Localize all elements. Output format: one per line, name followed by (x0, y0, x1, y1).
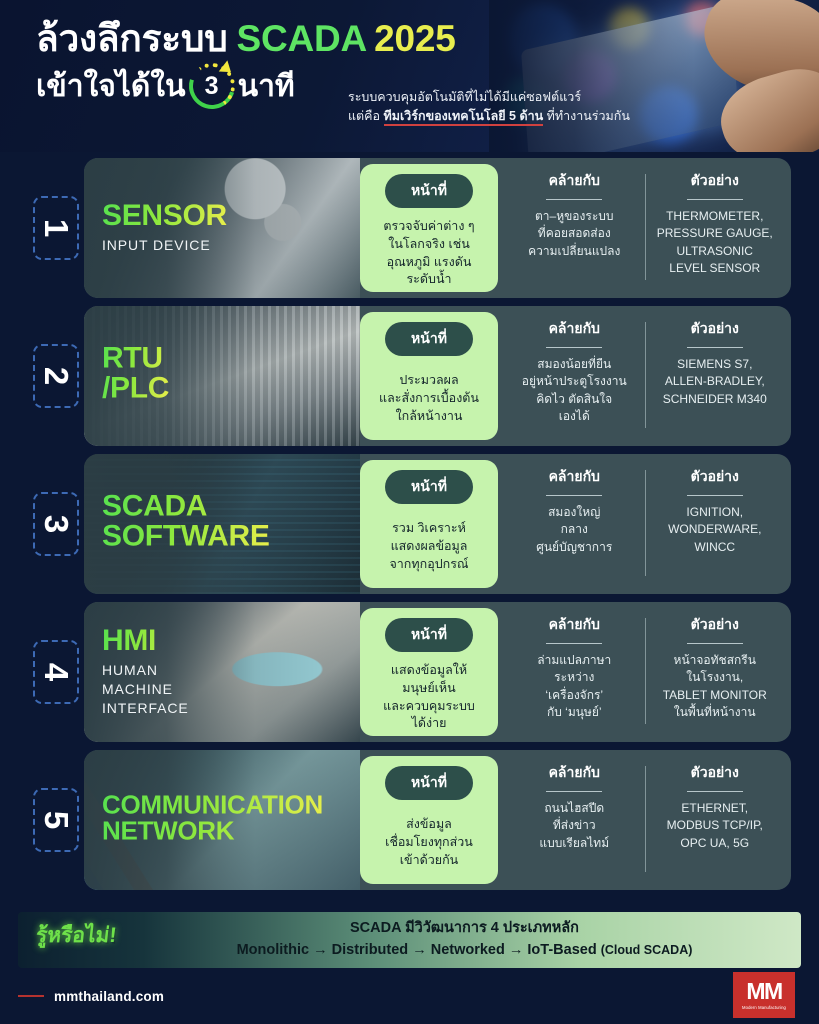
red-dash-icon (18, 995, 44, 998)
card-visual: COMMUNICATION NETWORK (84, 750, 360, 890)
ribbon-copy: SCADA มีวิวัฒนาการ 4 ประเภทหลัก Monolith… (127, 918, 693, 962)
duty-text: ส่งข้อมูล เชื่อมโยงทุกส่วน เข้าด้วยกัน (385, 810, 473, 876)
mm-logo-mark: MM (746, 980, 781, 1003)
ribbon-line-2: Monolithic → Distributed → Networked → I… (237, 940, 693, 962)
headline-thai: ล้วงลึกระบบ (36, 18, 228, 59)
card-subtitle: INPUT DEVICE (102, 236, 227, 255)
card-title: SCADA SOFTWARE (102, 492, 270, 552)
card-title-block: SCADA SOFTWARE (102, 492, 270, 557)
card-subtitle: HUMAN MACHINE INTERFACE (102, 661, 189, 718)
step-number-4: 4 (28, 602, 84, 742)
subcopy-line-1: ระบบควบคุมอัตโนมัติที่ไม่ได้มีแค่ซอฟต์แว… (348, 88, 630, 107)
step-number-value: 5 (37, 811, 75, 829)
step-number-2: 2 (28, 306, 84, 446)
divider (687, 791, 743, 792)
divider (546, 347, 602, 348)
example-text: IGNITION, WONDERWARE, WINCC (668, 504, 761, 556)
card-title: RTU /PLC (102, 344, 169, 404)
did-you-know-ribbon: รู้หรือไม่! SCADA มีวิวัฒนาการ 4 ประเภทห… (18, 912, 801, 968)
ribbon-line-1: SCADA มีวิวัฒนาการ 4 ประเภทหลัก (237, 918, 693, 940)
card-title: COMMUNICATION NETWORK (102, 792, 323, 844)
divider (687, 643, 743, 644)
step-row: 4 HMI HUMAN MACHINE INTERFACE หน้าที่ แส… (28, 602, 791, 742)
duty-text: ตรวจจับค่าต่าง ๆ ในโลกจริง เช่น อุณหภูมิ… (383, 218, 474, 289)
example-heading: ตัวอย่าง (691, 614, 739, 636)
steps-list: 1 SENSOR INPUT DEVICE หน้าที่ ตรวจจับค่า… (0, 152, 819, 890)
mm-logo[interactable]: MM Modern Manufacturing (733, 972, 795, 1018)
step-number-5: 5 (28, 750, 84, 890)
step-row: 3 SCADA SOFTWARE หน้าที่ รวม วิเคราะห์ แ… (28, 454, 791, 594)
similar-column: คล้ายกับ ถนนไฮสปีด ที่ส่งข่าว แบบเรียลไท… (504, 762, 645, 880)
example-heading: ตัวอย่าง (691, 318, 739, 340)
divider (687, 495, 743, 496)
similar-text: ล่ามแปลภาษา ระหว่าง ‘เครื่องจักร’ กับ ‘ม… (537, 652, 611, 722)
card-title: SENSOR (102, 201, 227, 231)
card-visual: HMI HUMAN MACHINE INTERFACE (84, 602, 360, 742)
card-columns: คล้ายกับ สมองใหญ่ กลาง ศูนย์บัญชาการ ตัว… (498, 454, 791, 594)
similar-heading: คล้ายกับ (549, 318, 600, 340)
example-column: ตัวอย่าง THERMOMETER, PRESSURE GAUGE, UL… (645, 170, 786, 288)
example-column: ตัวอย่าง IGNITION, WONDERWARE, WINCC (645, 466, 786, 584)
headline-line-1: ล้วงลึกระบบSCADA2025 (36, 18, 456, 59)
step-number-box: 4 (33, 640, 79, 704)
step-card-rtu-plc[interactable]: RTU /PLC หน้าที่ ประมวลผล และสั่งการเบื้… (84, 306, 791, 446)
example-column: ตัวอย่าง ETHERNET, MODBUS TCP/IP, OPC UA… (645, 762, 786, 880)
step-number-box: 2 (33, 344, 79, 408)
similar-text: ถนนไฮสปีด ที่ส่งข่าว แบบเรียลไทม์ (539, 800, 609, 852)
duty-text: รวม วิเคราะห์ แสดงผลข้อมูล จากทุกอุปกรณ์ (389, 514, 468, 580)
example-text: ETHERNET, MODBUS TCP/IP, OPC UA, 5G (667, 800, 763, 852)
duty-pill-label: หน้าที่ (385, 766, 473, 800)
card-columns: คล้ายกับ ถนนไฮสปีด ที่ส่งข่าว แบบเรียลไท… (498, 750, 791, 890)
example-text: THERMOMETER, PRESSURE GAUGE, ULTRASONIC … (657, 208, 773, 278)
footer-bar: mmthailand.com MM Modern Manufacturing (0, 968, 819, 1024)
step-number-box: 3 (33, 492, 79, 556)
evolution-chain: Monolithic → Distributed → Networked → I… (237, 942, 597, 958)
three-minute-badge: 3 (189, 63, 235, 109)
duty-panel: หน้าที่ ตรวจจับค่าต่าง ๆ ในโลกจริง เช่น … (360, 164, 498, 292)
badge-number: 3 (189, 63, 235, 109)
step-row: 5 COMMUNICATION NETWORK หน้าที่ ส่งข้อมู… (28, 750, 791, 890)
example-heading: ตัวอย่าง (691, 466, 739, 488)
mm-logo-subtitle: Modern Manufacturing (742, 1005, 786, 1010)
step-number-3: 3 (28, 454, 84, 594)
duty-panel: หน้าที่ รวม วิเคราะห์ แสดงผลข้อมูล จากทุ… (360, 460, 498, 588)
divider (546, 643, 602, 644)
step-card-hmi[interactable]: HMI HUMAN MACHINE INTERFACE หน้าที่ แสดง… (84, 602, 791, 742)
step-number-value: 2 (37, 367, 75, 385)
step-number-box: 5 (33, 788, 79, 852)
website-link[interactable]: mmthailand.com (54, 989, 164, 1004)
example-column: ตัวอย่าง SIEMENS S7, ALLEN-BRADLEY, SCHN… (645, 318, 786, 436)
divider (546, 791, 602, 792)
subtitle-prefix: เข้าใจได้ใน (36, 70, 186, 103)
duty-panel: หน้าที่ ประมวลผล และสั่งการเบื้องต้น ใกล… (360, 312, 498, 440)
similar-text: ตา–หูของระบบ ที่คอยสอดส่อง ความเปลี่ยนแป… (528, 208, 620, 260)
step-card-communication-network[interactable]: COMMUNICATION NETWORK หน้าที่ ส่งข้อมูล … (84, 750, 791, 890)
subcopy-suffix: ที่ทำงานร่วมกัน (543, 109, 630, 123)
example-column: ตัวอย่าง หน้าจอทัชสกรีน ในโรงงาน, TABLET… (645, 614, 786, 732)
duty-text: แสดงข้อมูลให้ มนุษย์เห็น และควบคุมระบบ ไ… (383, 662, 475, 733)
step-card-sensor[interactable]: SENSOR INPUT DEVICE หน้าที่ ตรวจจับค่าต่… (84, 158, 791, 298)
similar-heading: คล้ายกับ (549, 614, 600, 636)
similar-heading: คล้ายกับ (549, 170, 600, 192)
duty-panel: หน้าที่ ส่งข้อมูล เชื่อมโยงทุกส่วน เข้าด… (360, 756, 498, 884)
divider (687, 347, 743, 348)
step-number-value: 4 (37, 663, 75, 681)
similar-column: คล้ายกับ สมองใหญ่ กลาง ศูนย์บัญชาการ (504, 466, 645, 584)
example-text: หน้าจอทัชสกรีน ในโรงงาน, TABLET MONITOR … (663, 652, 767, 722)
card-visual: SCADA SOFTWARE (84, 454, 360, 594)
step-row: 2 RTU /PLC หน้าที่ ประมวลผล และสั่งการเบ… (28, 306, 791, 446)
footer: รู้หรือไม่! SCADA มีวิวัฒนาการ 4 ประเภทห… (0, 912, 819, 1024)
card-columns: คล้ายกับ ตา–หูของระบบ ที่คอยสอดส่อง ความ… (498, 158, 791, 298)
duty-pill-label: หน้าที่ (385, 322, 473, 356)
card-columns: คล้ายกับ ล่ามแปลภาษา ระหว่าง ‘เครื่องจัก… (498, 602, 791, 742)
card-title-block: COMMUNICATION NETWORK (102, 792, 323, 849)
card-title-block: HMI HUMAN MACHINE INTERFACE (102, 626, 189, 718)
step-number-1: 1 (28, 158, 84, 298)
did-you-know-label: รู้หรือไม่! (34, 919, 118, 952)
card-title: HMI (102, 626, 189, 656)
step-card-scada-software[interactable]: SCADA SOFTWARE หน้าที่ รวม วิเคราะห์ แสด… (84, 454, 791, 594)
similar-column: คล้ายกับ ล่ามแปลภาษา ระหว่าง ‘เครื่องจัก… (504, 614, 645, 732)
card-visual: RTU /PLC (84, 306, 360, 446)
example-heading: ตัวอย่าง (691, 762, 739, 784)
example-text: SIEMENS S7, ALLEN-BRADLEY, SCHNEIDER M34… (663, 356, 767, 408)
step-number-value: 3 (37, 515, 75, 533)
step-number-value: 1 (37, 219, 75, 237)
headline-scada: SCADA (237, 18, 368, 59)
subcopy-prefix: แต่คือ (348, 109, 384, 123)
card-title-block: RTU /PLC (102, 344, 169, 409)
divider (687, 199, 743, 200)
similar-heading: คล้ายกับ (549, 466, 600, 488)
similar-column: คล้ายกับ ตา–หูของระบบ ที่คอยสอดส่อง ความ… (504, 170, 645, 288)
divider (546, 199, 602, 200)
duty-pill-label: หน้าที่ (385, 470, 473, 504)
hero-header: ล้วงลึกระบบSCADA2025 เข้าใจได้ใน 3 นาที … (0, 0, 819, 152)
similar-heading: คล้ายกับ (549, 762, 600, 784)
headline-year: 2025 (374, 18, 456, 59)
divider (546, 495, 602, 496)
subcopy-line-2: แต่คือ ทีมเวิร์กของเทคโนโลยี 5 ด้าน ที่ท… (348, 107, 630, 126)
duty-pill-label: หน้าที่ (385, 618, 473, 652)
example-heading: ตัวอย่าง (691, 170, 739, 192)
similar-column: คล้ายกับ สมองน้อยที่ยืน อยู่หน้าประตูโรง… (504, 318, 645, 436)
similar-text: สมองน้อยที่ยืน อยู่หน้าประตูโรงงาน คิดไว… (522, 356, 627, 426)
step-row: 1 SENSOR INPUT DEVICE หน้าที่ ตรวจจับค่า… (28, 158, 791, 298)
duty-text: ประมวลผล และสั่งการเบื้องต้น ใกล้หน้างาน (379, 366, 479, 432)
card-columns: คล้ายกับ สมองน้อยที่ยืน อยู่หน้าประตูโรง… (498, 306, 791, 446)
evolution-paren: (Cloud SCADA) (601, 943, 693, 957)
subcopy-highlight: ทีมเวิร์กของเทคโนโลยี 5 ด้าน (384, 109, 544, 126)
duty-panel: หน้าที่ แสดงข้อมูลให้ มนุษย์เห็น และควบค… (360, 608, 498, 736)
hero-subcopy: ระบบควบคุมอัตโนมัติที่ไม่ได้มีแค่ซอฟต์แว… (348, 88, 630, 127)
subtitle-suffix: นาที (238, 70, 295, 103)
card-title-block: SENSOR INPUT DEVICE (102, 201, 227, 255)
duty-pill-label: หน้าที่ (385, 174, 473, 208)
card-visual: SENSOR INPUT DEVICE (84, 158, 360, 298)
similar-text: สมองใหญ่ กลาง ศูนย์บัญชาการ (536, 504, 612, 556)
hero-image-tablet-hands (489, 0, 819, 152)
step-number-box: 1 (33, 196, 79, 260)
